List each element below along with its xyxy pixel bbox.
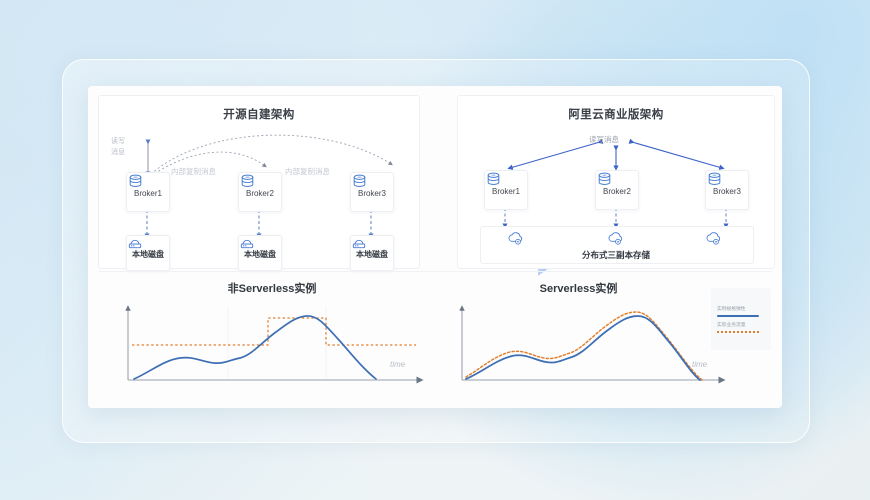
local-disk-node-1-label: 本地磁盘 [132,249,164,260]
section-divider [98,271,772,272]
legend-entry-instance-spec: 实例规格弹性 [717,305,765,318]
read-write-message-label: 读写消息 [589,134,619,145]
local-disk-node-3-label: 本地磁盘 [356,249,388,260]
panel-opensource-architecture: 开源自建架构 [98,95,420,269]
legend-label-instance-spec: 实例规格弹性 [717,305,763,312]
chart-non-serverless: 非Serverless实例 time [98,276,446,398]
content-card: 开源自建架构 [88,86,782,408]
cloud-broker-node-1[interactable]: Broker1 [484,170,528,210]
read-write-label-line1: 读写 [111,136,125,147]
legend-entry-business-traffic: 实际业务流量 [717,321,765,333]
legend-swatch-solid-icon [717,315,759,318]
chart-serverless-title: Serverless实例 [454,280,703,296]
local-disk-node-2-label: 本地磁盘 [244,249,276,260]
local-disk-node-1[interactable]: 本地磁盘 [126,235,170,271]
local-disk-node-3[interactable]: 本地磁盘 [350,235,394,271]
panel-alibaba-cloud-architecture: 阿里云商业版架构 [457,95,775,269]
chart-non-serverless-title: 非Serverless实例 [98,280,446,296]
chart-serverless-legend: 实例规格弹性 实际业务流量 [711,288,771,350]
replication-label-1: 内部复制消息 [171,166,216,177]
broker-node-3[interactable]: Broker3 [350,172,394,212]
local-disk-node-2[interactable]: 本地磁盘 [238,235,282,271]
chart-non-serverless-xlabel: time [390,360,405,369]
panel-alibaba-title: 阿里云商业版架构 [458,106,774,122]
chart-serverless: Serverless实例 time 实例规格弹性 [454,276,773,398]
replication-label-2: 内部复制消息 [285,166,330,177]
read-write-label-line2: 消息 [111,147,125,158]
cloud-broker-node-3[interactable]: Broker3 [705,170,749,210]
panel-opensource-title: 开源自建架构 [99,106,419,122]
broker-node-1[interactable]: Broker1 [126,172,170,212]
chart-serverless-xlabel: time [692,360,707,369]
legend-swatch-dotted-icon [717,331,759,333]
cloud-broker-node-2[interactable]: Broker2 [595,170,639,210]
distributed-storage-label: 分布式三副本存储 [458,249,774,261]
legend-label-business-traffic: 实际业务流量 [717,321,763,328]
read-write-side-label: 读写 消息 [111,136,125,158]
broker-node-2[interactable]: Broker2 [238,172,282,212]
screenshot-stage: 开源自建架构 [0,0,870,500]
